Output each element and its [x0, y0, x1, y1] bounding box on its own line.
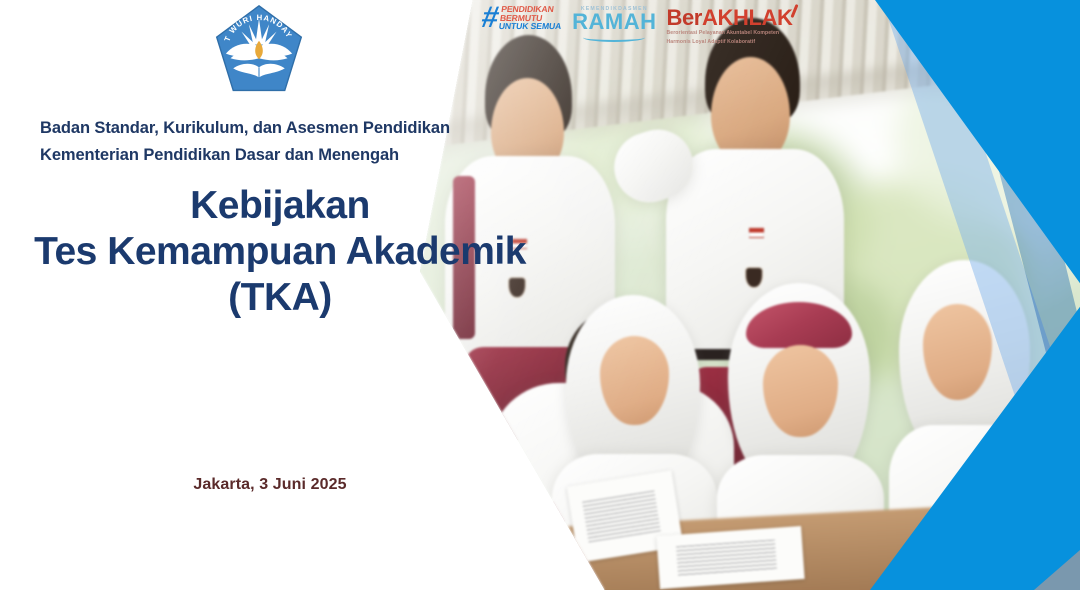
page-title-line1: Kebijakan [0, 183, 560, 229]
page-title: Kebijakan Tes Kemampuan Akademik (TKA) [0, 183, 560, 321]
event-date: Jakarta, 3 Juni 2025 [0, 476, 540, 494]
org-title-line1: Badan Standar, Kurikulum, dan Asesmen Pe… [40, 115, 520, 142]
page-title-line2: Tes Kemampuan Akademik [0, 229, 560, 275]
flag-patch [749, 227, 764, 238]
title-content: TUT WURI HANDAYANI [0, 0, 560, 590]
badge-ramah-wordmark: RAMAH [572, 12, 656, 33]
badge-berakhlak-wordmark: BerAKHLAK [666, 7, 792, 29]
slide-canvas: # PENDIDIKAN BERMUTU UNTUK SEMUA KEMENDI… [0, 0, 1080, 590]
badge-berakhlak-subline2: Harmonis Loyal Adaptif Kolaboratif [666, 39, 792, 47]
badge-berakhlak-prefix: Ber [666, 5, 702, 30]
tut-wuri-handayani-logo: TUT WURI HANDAYANI [213, 4, 305, 96]
org-title-line2: Kementerian Pendidikan Dasar dan Menenga… [40, 142, 520, 169]
badge-berakhlak: BerAKHLAK Berorientasi Pelayanan Akuntab… [666, 4, 792, 46]
badge-ramah: KEMENDIKDASMEN RAMAH [572, 4, 656, 42]
badge-berakhlak-subline1: Berorientasi Pelayanan Akuntabel Kompete… [666, 30, 792, 38]
ramah-swoosh-icon [583, 33, 645, 42]
badge-berakhlak-main: AKHLAK [702, 5, 792, 30]
organization-title: Badan Standar, Kurikulum, dan Asesmen Pe… [40, 115, 520, 168]
page-title-line3: (TKA) [0, 275, 560, 321]
